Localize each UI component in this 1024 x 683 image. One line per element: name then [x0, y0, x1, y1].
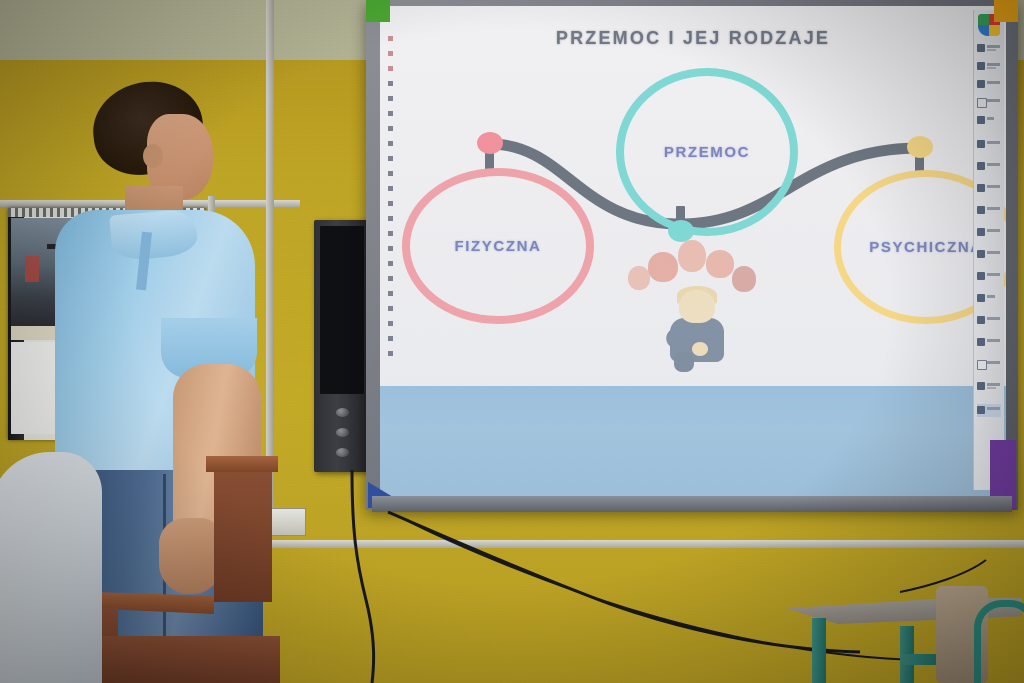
- strip-dot: [388, 66, 393, 71]
- face-3: [678, 240, 706, 272]
- strip-dot: [388, 51, 393, 56]
- toolbar-item[interactable]: [977, 138, 1001, 151]
- toolbar-label: [987, 361, 1000, 364]
- student-desk-leg-left: [812, 618, 826, 683]
- child-hand: [692, 342, 708, 356]
- toolbar-item[interactable]: [977, 292, 1001, 305]
- toolbar-label: [987, 383, 1000, 386]
- toolbar-label: [987, 141, 1000, 144]
- whiteboard-pen-tray: [372, 496, 1012, 512]
- toolbar-item[interactable]: [977, 60, 1001, 73]
- toolbar-label: [987, 339, 1000, 342]
- strip-dot: [388, 36, 393, 41]
- toolbar-label: [987, 295, 995, 298]
- strip-dot: [388, 306, 393, 311]
- toolbar-item[interactable]: [977, 78, 1001, 91]
- toolbar-icon: [977, 338, 985, 346]
- toolbar-sublabel: [987, 49, 996, 51]
- toolbar-icon: [977, 272, 985, 280]
- toolbar-item[interactable]: [977, 226, 1001, 239]
- toolbar-label: [987, 317, 1000, 320]
- toolbar-icon: [977, 140, 985, 148]
- corner-marker-top-right: [994, 0, 1018, 22]
- toolbar-label: [987, 251, 1000, 254]
- face-1: [628, 266, 650, 290]
- photo-red-accent: [25, 256, 39, 282]
- node-label-fizyczna: FIZYCZNA: [455, 238, 542, 255]
- strip-dot: [388, 351, 393, 356]
- strip-dot: [388, 291, 393, 296]
- toolbar-item[interactable]: [977, 42, 1001, 55]
- node-label-przemoc: PRZEMOC: [664, 144, 750, 161]
- node-label-psychiczna: PSYCHICZNA: [869, 239, 983, 256]
- toolbar-icon: [977, 184, 985, 192]
- foreground-white-object: [0, 452, 102, 683]
- wall-speaker: [314, 220, 370, 472]
- slide-lower-band: [380, 386, 1006, 496]
- toolbar-item[interactable]: [977, 182, 1001, 195]
- wooden-bench-seat-back: [206, 456, 278, 472]
- slide-illustration: [630, 238, 760, 368]
- toolbar-icon: [977, 206, 985, 214]
- toolbar-item[interactable]: [977, 160, 1001, 173]
- face-2: [648, 252, 678, 282]
- face-5: [732, 266, 756, 292]
- pin-dot-right: [907, 136, 933, 158]
- speaker-grille: [320, 226, 364, 394]
- toolbar-icon: [977, 80, 985, 88]
- toolbar-label: [987, 99, 1000, 102]
- strip-dot: [388, 261, 393, 266]
- toolbar-item-selected[interactable]: [977, 404, 1001, 417]
- classroom-photo: 2 9 16 23 30 2 1 1 2 PRZEMOC I JEJ RODZA…: [0, 0, 1024, 683]
- toolbar-label: [987, 45, 1000, 48]
- pin-dot-left: [477, 132, 503, 154]
- node-ring-fizyczna[interactable]: FIZYCZNA: [402, 168, 594, 324]
- toolbar-icon: [977, 62, 985, 70]
- toolbar-label: [987, 207, 1000, 210]
- toolbar-label: [987, 163, 1000, 166]
- speaker-knob[interactable]: [336, 448, 349, 457]
- speaker-knob[interactable]: [336, 408, 349, 417]
- strip-dot: [388, 321, 393, 326]
- wooden-bench-back: [214, 462, 272, 602]
- toolbar-icon: [977, 406, 985, 414]
- strip-dot: [388, 276, 393, 281]
- toolbar-label: [987, 63, 1000, 66]
- toolbar-item[interactable]: [977, 270, 1001, 283]
- toolbar-sublabel: [987, 67, 996, 69]
- toolbar-icon: [977, 116, 985, 124]
- toolbar-icon: [977, 316, 985, 324]
- child-head: [679, 290, 715, 323]
- toolbar-icon: [977, 228, 985, 236]
- toolbar-item[interactable]: [977, 380, 1001, 393]
- person-ear: [143, 144, 163, 168]
- toolbar-icon: [977, 294, 985, 302]
- toolbar-label: [987, 185, 1000, 188]
- toolbar-icon: [977, 44, 985, 52]
- toolbar-label: [987, 229, 1000, 232]
- toolbar-item[interactable]: [977, 314, 1001, 327]
- corner-marker-top-left: [366, 0, 390, 22]
- strip-dot: [388, 96, 393, 101]
- toolbar-label: [987, 117, 994, 120]
- node-ring-przemoc[interactable]: PRZEMOC: [616, 68, 798, 236]
- toolbar-icon: [977, 360, 987, 370]
- strip-dot: [388, 81, 393, 86]
- toolbar-sublabel: [987, 387, 996, 389]
- toolbar-icon: [977, 250, 985, 258]
- toolbar-icon: [977, 162, 985, 170]
- toolbar-item[interactable]: [977, 114, 1001, 127]
- speaker-knob[interactable]: [336, 428, 349, 437]
- whiteboard-software-toolbar[interactable]: [973, 10, 1004, 490]
- face-4: [706, 250, 734, 278]
- toolbar-label: [987, 407, 1000, 410]
- whiteboard-surface[interactable]: PRZEMOC I JEJ RODZAJE: [380, 6, 1006, 496]
- strip-dot: [388, 246, 393, 251]
- toolbar-item[interactable]: [977, 358, 1001, 371]
- toolbar-item[interactable]: [977, 96, 1001, 109]
- strip-dot: [388, 336, 393, 341]
- toolbar-item[interactable]: [977, 248, 1001, 261]
- toolbar-icon: [977, 98, 987, 108]
- toolbar-item[interactable]: [977, 336, 1001, 349]
- toolbar-item[interactable]: [977, 204, 1001, 217]
- toolbar-icon: [977, 382, 985, 390]
- person-hand: [159, 518, 221, 594]
- toolbar-label: [987, 273, 1000, 276]
- toolbar-label: [987, 81, 1000, 84]
- student-chair-frame: [974, 600, 1024, 683]
- slide-title: PRZEMOC I JEJ RODZAJE: [380, 28, 1006, 49]
- child-leg: [674, 352, 694, 372]
